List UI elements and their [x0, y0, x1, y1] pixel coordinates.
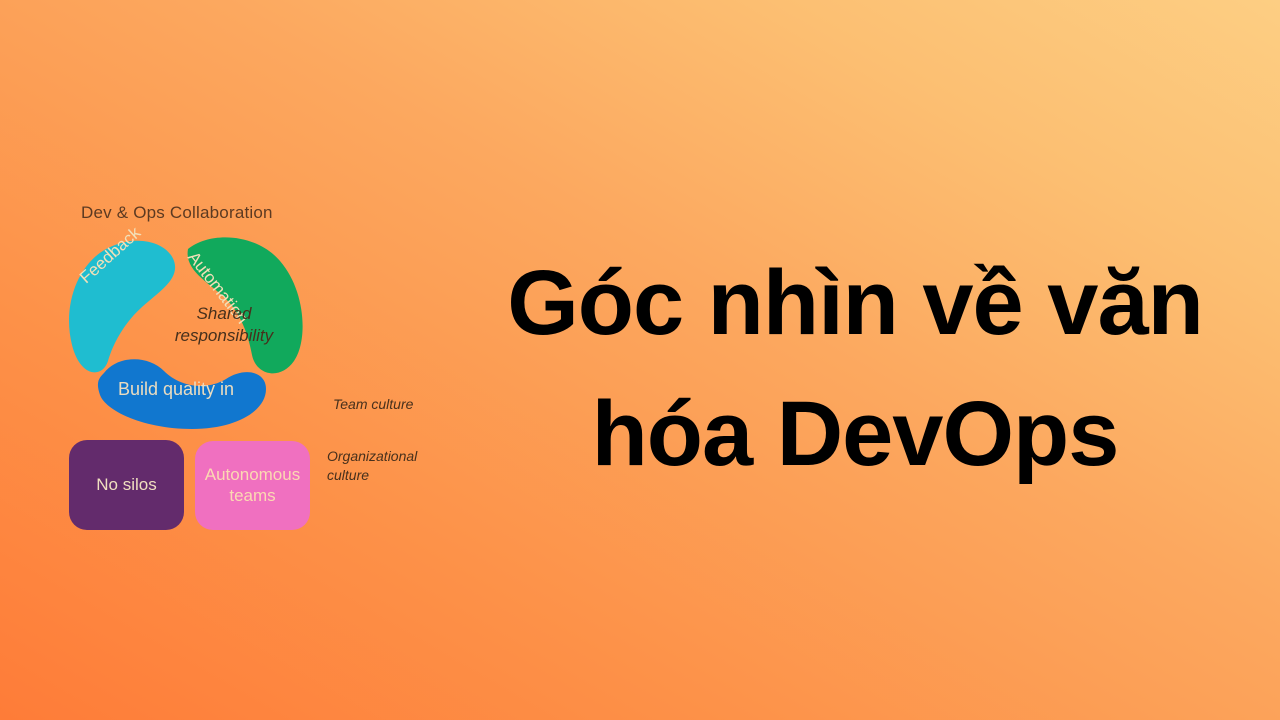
- autonomous-teams-card: Autonomousteams: [195, 441, 310, 530]
- shared-responsibility-line1: Shared: [197, 304, 252, 323]
- no-silos-card-label: No silos: [96, 475, 156, 495]
- shared-responsibility-label: Shared responsibility: [144, 303, 304, 347]
- autonomous-teams-line1: Autonomous: [205, 465, 300, 484]
- no-silos-card: No silos: [69, 440, 184, 530]
- organizational-culture-note: Organizational culture: [327, 447, 437, 485]
- build-quality-blob-label: Build quality in: [118, 379, 234, 400]
- devops-culture-diagram: Dev & Ops Collaboration Feedback Automat…: [60, 195, 460, 545]
- page-title-line1: Góc nhìn về văn: [460, 238, 1250, 369]
- autonomous-teams-line2: teams: [229, 486, 275, 505]
- slide-canvas: Dev & Ops Collaboration Feedback Automat…: [0, 0, 1280, 720]
- organizational-culture-line2: culture: [327, 467, 369, 483]
- page-title-line2: hóa DevOps: [460, 369, 1250, 500]
- team-culture-note: Team culture: [333, 395, 413, 414]
- autonomous-teams-card-label: Autonomousteams: [205, 465, 300, 506]
- organizational-culture-line1: Organizational: [327, 448, 417, 464]
- shared-responsibility-line2: responsibility: [175, 326, 273, 345]
- page-title: Góc nhìn về văn hóa DevOps: [460, 238, 1250, 499]
